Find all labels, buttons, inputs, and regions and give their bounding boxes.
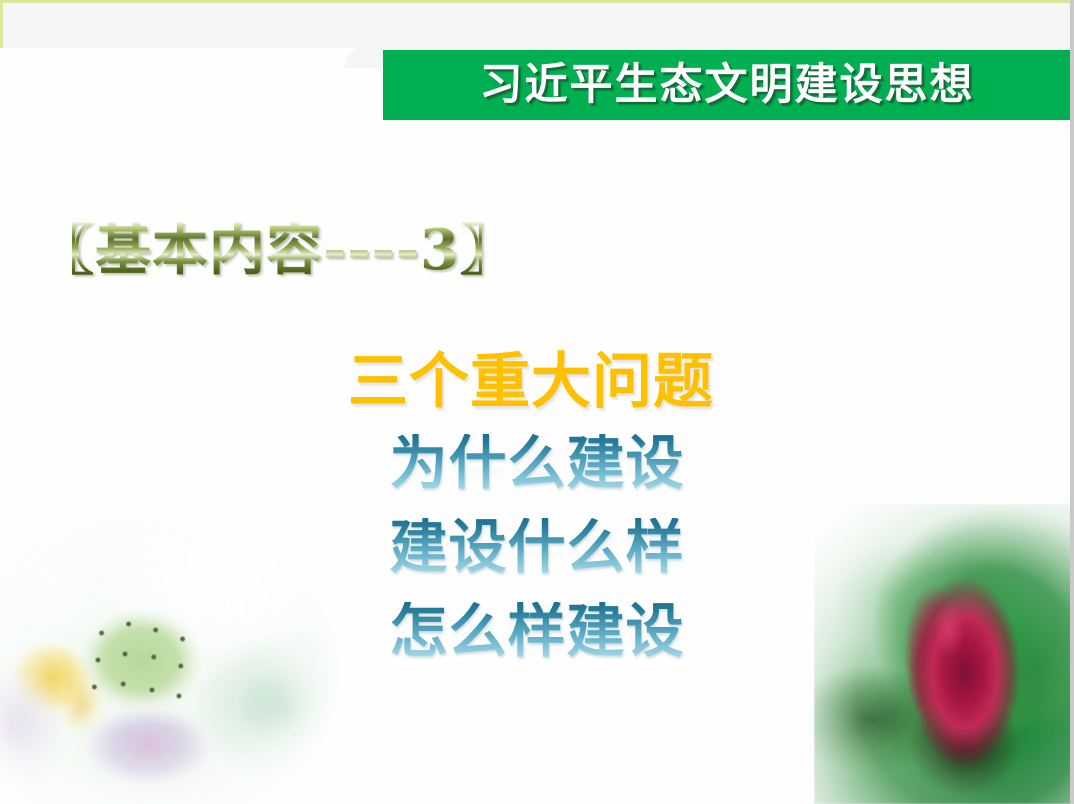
- headline-lead-row: 三个重大问题: [0, 352, 1074, 434]
- headline-question-text-3: 怎么样建设: [389, 602, 684, 660]
- headline-question-row-1: 为什么建设: [0, 434, 1074, 518]
- headline-question-text-1: 为什么建设: [389, 434, 684, 492]
- headline-question-row-3: 怎么样建设: [0, 602, 1074, 686]
- section-heading: 〖基本内容----3〗: [38, 222, 517, 278]
- presentation-slide: 习近平生态文明建设思想 〖基本内容----3〗 三个重大问题 为什么建设 建设什…: [0, 0, 1074, 804]
- headline-question-text-2: 建设什么样: [389, 518, 684, 576]
- headline-question-row-2: 建设什么样: [0, 518, 1074, 602]
- banner-title-text: 习近平生态文明建设思想: [480, 64, 975, 107]
- headline-lead-text: 三个重大问题: [348, 352, 714, 412]
- headline-stack: 三个重大问题 为什么建设 建设什么样 怎么样建设: [0, 352, 1074, 686]
- title-banner: 习近平生态文明建设思想: [383, 50, 1071, 120]
- slide-frame-right-edge: [1070, 0, 1074, 804]
- top-decorative-band: [0, 0, 1074, 48]
